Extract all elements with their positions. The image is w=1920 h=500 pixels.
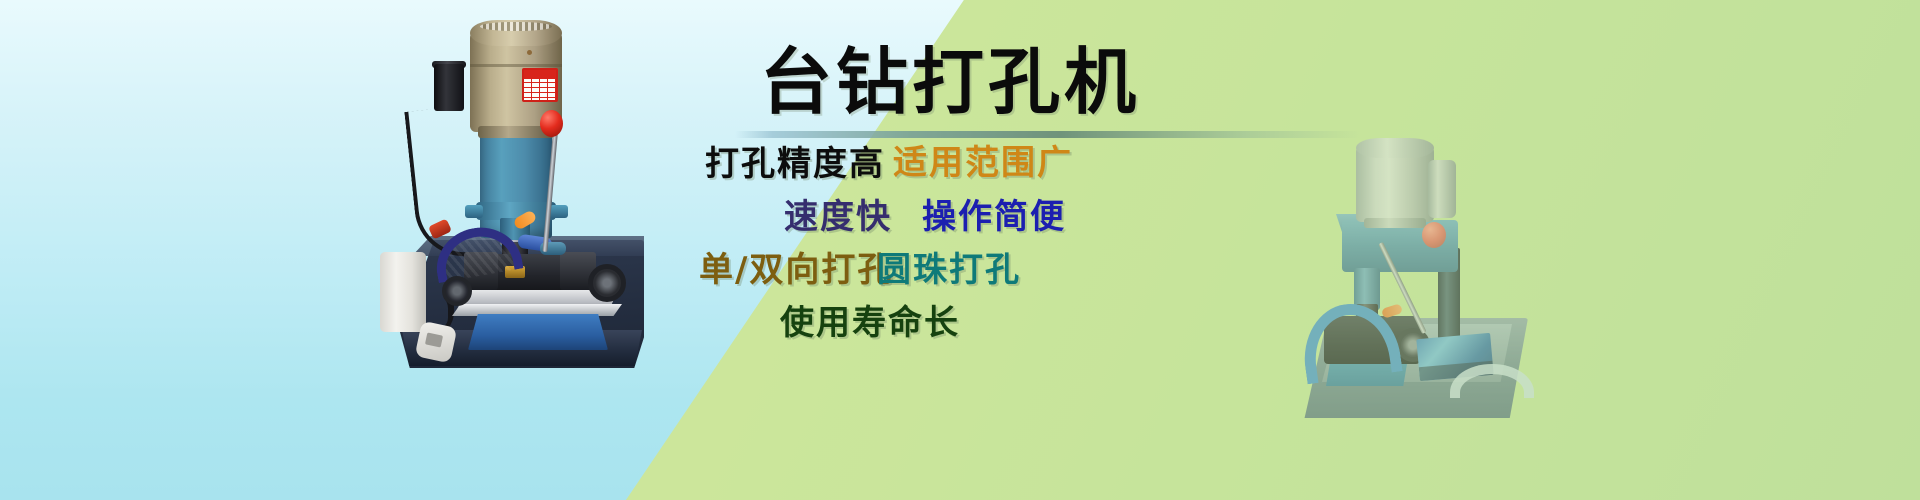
handwheel-right <box>588 264 626 302</box>
feature-single-double-hole: 单/双向打孔 <box>699 250 893 290</box>
feature-wide-application: 适用范围广 <box>893 143 1073 183</box>
handwheel-left <box>442 276 472 306</box>
label-table <box>524 79 556 102</box>
chip-tray <box>468 314 608 350</box>
motor-screw <box>527 50 532 55</box>
feature-long-lifespan: 使用寿命长 <box>780 303 960 343</box>
feature-fast-speed: 速度快 <box>784 197 892 237</box>
spindle-lug-left <box>465 205 483 218</box>
motor-seam <box>470 64 562 67</box>
control-box <box>380 252 426 332</box>
feature-easy-operation: 操作简便 <box>922 197 1066 237</box>
motor-foot <box>1364 218 1426 228</box>
junction-box <box>434 64 464 111</box>
product-banner: 台钻打孔机 打孔精度高 适用范围广 速度快 操作简便 单/双向打孔 圆珠打孔 使… <box>0 0 1920 500</box>
right-machine-image <box>1300 128 1532 428</box>
motor-cap <box>1356 138 1434 158</box>
feature-bead-drilling: 圆珠打孔 <box>877 250 1021 290</box>
label-header <box>524 70 556 79</box>
feature-drilling-precision: 打孔精度高 <box>705 144 885 184</box>
left-machine-image <box>372 14 644 366</box>
lever-knob <box>540 110 563 137</box>
lever-knob <box>1422 222 1446 248</box>
capacitor-can <box>1428 160 1456 218</box>
motor-spec-label <box>522 68 558 102</box>
banner-title: 台钻打孔机 <box>760 40 1140 124</box>
motor-vents <box>480 22 552 31</box>
title-divider <box>735 131 1360 138</box>
spindle-lug-right <box>550 205 568 218</box>
